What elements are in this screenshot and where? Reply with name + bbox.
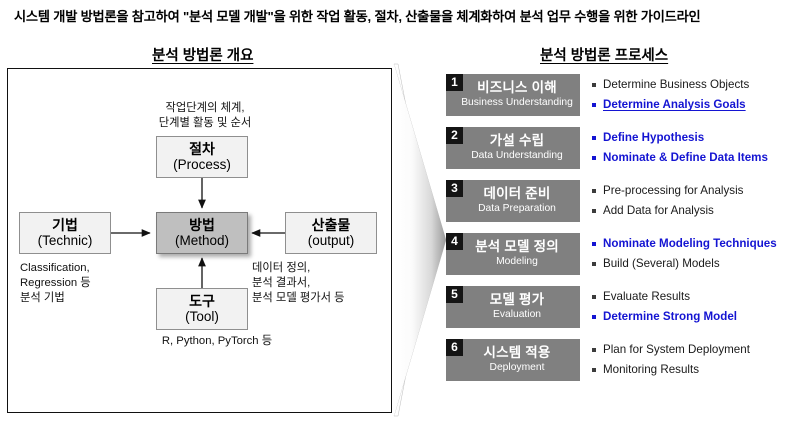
overview-diagram-frame: 작업단계의 체계, 단계별 활동 및 순서 절차 (Process) 방법 (M… — [7, 68, 392, 413]
bullet-item: Determine Strong Model — [591, 307, 791, 327]
step-bullets-6: Plan for System Deployment Monitoring Re… — [591, 340, 791, 380]
step-number-2: 2 — [446, 127, 463, 144]
process-step-2[interactable]: 2 가설 수립 Data Understanding Define Hypoth… — [446, 127, 791, 169]
step-box-5[interactable]: 5 모델 평가 Evaluation — [446, 286, 580, 328]
step-title-kr-5: 모델 평가 — [490, 292, 544, 308]
step-box-3[interactable]: 3 데이터 준비 Data Preparation — [446, 180, 580, 222]
step-title-kr-4: 분석 모델 정의 — [475, 239, 559, 255]
step-title-kr-1: 비즈니스 이해 — [477, 80, 557, 96]
process-step-1[interactable]: 1 비즈니스 이해 Business Understanding Determi… — [446, 74, 791, 116]
step-title-en-5: Evaluation — [493, 309, 541, 322]
node-output-en: (output) — [308, 233, 355, 249]
bullet-item: Evaluate Results — [591, 287, 791, 307]
step-box-6[interactable]: 6 시스템 적용 Deployment — [446, 339, 580, 381]
node-technic-en: (Technic) — [38, 233, 93, 249]
node-technic-kr: 기법 — [52, 217, 78, 234]
node-output-kr: 산출물 — [312, 217, 351, 234]
bullet-item[interactable]: Determine Analysis Goals — [591, 95, 791, 115]
step-number-6: 6 — [446, 339, 463, 356]
bullet-item: Determine Business Objects — [591, 75, 791, 95]
process-step-6[interactable]: 6 시스템 적용 Deployment Plan for System Depl… — [446, 339, 791, 381]
node-tool-kr: 도구 — [189, 293, 215, 310]
process-step-3[interactable]: 3 데이터 준비 Data Preparation Pre-processing… — [446, 180, 791, 222]
step-title-en-6: Deployment — [490, 362, 545, 375]
step-number-5: 5 — [446, 286, 463, 303]
page-headline: 시스템 개발 방법론을 참고하여 "분석 모델 개발"을 위한 작업 활동, 절… — [14, 6, 782, 25]
step-bullets-5: Evaluate Results Determine Strong Model — [591, 287, 791, 327]
step-title-kr-2: 가설 수립 — [490, 133, 544, 149]
note-tool: R, Python, PyTorch 등 — [142, 334, 292, 349]
step-bullets-3: Pre-processing for Analysis Add Data for… — [591, 181, 791, 221]
step-title-en-3: Data Preparation — [478, 203, 556, 216]
note-output: 데이터 정의, 분석 결과서, 분석 모델 평가서 등 — [252, 261, 392, 306]
step-box-4[interactable]: 4 분석 모델 정의 Modeling — [446, 233, 580, 275]
process-step-5[interactable]: 5 모델 평가 Evaluation Evaluate Results Dete… — [446, 286, 791, 328]
node-output[interactable]: 산출물 (output) — [285, 212, 377, 254]
bullet-item: Build (Several) Models — [591, 254, 791, 274]
step-box-2[interactable]: 2 가설 수립 Data Understanding — [446, 127, 580, 169]
step-title-kr-3: 데이터 준비 — [483, 186, 550, 202]
node-process[interactable]: 절차 (Process) — [156, 136, 248, 178]
step-number-4: 4 — [446, 233, 463, 250]
node-tool-en: (Tool) — [185, 309, 219, 325]
node-method-en: (Method) — [175, 233, 229, 249]
left-panel-title: 분석 방법론 개요 — [152, 44, 253, 65]
step-title-en-1: Business Understanding — [461, 97, 573, 110]
bullet-item: Pre-processing for Analysis — [591, 181, 791, 201]
node-technic[interactable]: 기법 (Technic) — [19, 212, 111, 254]
process-step-list: 1 비즈니스 이해 Business Understanding Determi… — [446, 74, 791, 392]
bullet-item: Plan for System Deployment — [591, 340, 791, 360]
step-bullets-4: Nominate Modeling Techniques Build (Seve… — [591, 234, 791, 274]
note-technic: Classification, Regression 등 분석 기법 — [20, 261, 140, 306]
node-tool[interactable]: 도구 (Tool) — [156, 288, 248, 330]
bullet-item: Monitoring Results — [591, 360, 791, 380]
step-title-kr-6: 시스템 적용 — [483, 345, 550, 361]
step-title-en-4: Modeling — [496, 256, 538, 269]
step-number-1: 1 — [446, 74, 463, 91]
bullet-item: Add Data for Analysis — [591, 201, 791, 221]
step-box-1[interactable]: 1 비즈니스 이해 Business Understanding — [446, 74, 580, 116]
node-method-kr: 방법 — [189, 217, 215, 234]
step-title-en-2: Data Understanding — [471, 150, 563, 163]
node-process-en: (Process) — [173, 157, 231, 173]
process-step-4[interactable]: 4 분석 모델 정의 Modeling Nominate Modeling Te… — [446, 233, 791, 275]
step-number-3: 3 — [446, 180, 463, 197]
step-bullets-1: Determine Business Objects Determine Ana… — [591, 75, 791, 115]
node-method[interactable]: 방법 (Method) — [156, 212, 248, 254]
bullet-item: Nominate Modeling Techniques — [591, 234, 791, 254]
node-process-kr: 절차 — [189, 141, 215, 158]
step-bullets-2: Define Hypothesis Nominate & Define Data… — [591, 128, 791, 168]
bullet-item: Nominate & Define Data Items — [591, 148, 791, 168]
right-panel-title: 분석 방법론 프로세스 — [540, 44, 668, 65]
right-chevron-arrow-icon — [392, 62, 448, 418]
note-process: 작업단계의 체계, 단계별 활동 및 순서 — [146, 101, 264, 131]
bullet-item: Define Hypothesis — [591, 128, 791, 148]
